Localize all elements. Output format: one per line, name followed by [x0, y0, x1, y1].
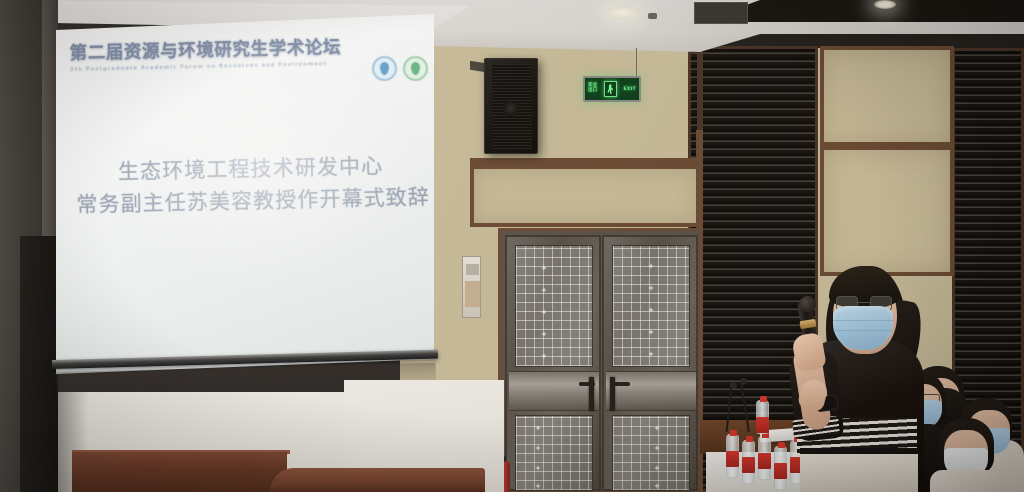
wooden-table-curved — [270, 468, 485, 492]
door-right-push-plate[interactable] — [606, 371, 696, 411]
door-left-glass-upper — [515, 245, 593, 367]
exit-sign-english-label: EXIT — [624, 87, 637, 92]
ceiling-vent-grille — [694, 2, 748, 24]
left-wall-column — [42, 0, 58, 240]
projection-screen: 第二届资源与环境研究生学术论坛 2th Postgraduate Academi… — [56, 14, 434, 374]
audience-person-5-body — [930, 470, 1002, 492]
table-mic-head-2 — [740, 378, 747, 385]
ceiling-light-main — [606, 6, 640, 19]
leaf-drop-shape — [411, 62, 420, 75]
slide-body-text: 生态环境工程技术研发中心 常务副主任苏美容教授作开幕式致辞 — [75, 150, 426, 222]
wall-mounted-loudspeaker — [484, 58, 538, 154]
speaker-driver-cone — [503, 101, 518, 116]
door-right-lever[interactable] — [614, 382, 630, 386]
water-bottle — [742, 440, 755, 484]
exit-sign-chinese-label: 安全出口 — [588, 84, 597, 93]
door-right[interactable] — [602, 235, 698, 491]
slide-text-line-2: 常务副主任苏美容教授作开幕式致辞 — [76, 182, 427, 222]
wall-plaque — [462, 256, 481, 318]
door-left-lever[interactable] — [579, 382, 595, 386]
table-mic-head-1 — [730, 382, 737, 389]
water-drop-logo-blue-icon — [372, 56, 397, 81]
exit-sign-face: 安全出口 EXIT — [585, 78, 639, 100]
speaker-skirt — [800, 454, 918, 492]
slide-banner-header: 第二届资源与环境研究生学术论坛 2th Postgraduate Academi… — [69, 32, 422, 102]
wall-panel-lower — [820, 146, 954, 276]
wall-panel-upper — [820, 46, 954, 146]
double-door-frame — [498, 228, 702, 492]
running-man-icon — [604, 81, 617, 97]
ceiling-light-secondary — [874, 0, 896, 9]
emergency-exit-sign: 安全出口 EXIT — [583, 76, 641, 102]
water-bottle — [756, 400, 769, 434]
water-bottle — [774, 446, 787, 490]
leaf-drop-logo-green-icon — [403, 56, 428, 81]
water-bottle — [758, 436, 771, 480]
ceiling-sensor — [648, 13, 657, 19]
wall-panel-above-door — [470, 165, 702, 227]
plaque-lower-band — [465, 281, 480, 307]
speaker-face-mask — [833, 306, 893, 350]
door-left[interactable] — [505, 235, 601, 491]
door-left-glass-lower — [515, 415, 593, 491]
water-drop-shape — [380, 62, 389, 75]
wall-trim-horizontal-upper — [470, 158, 702, 165]
exit-sign-hanging-wire — [636, 48, 637, 78]
wooden-podium — [72, 452, 287, 492]
water-bottle — [726, 434, 739, 478]
glasses-bridge — [858, 302, 870, 303]
door-left-push-plate[interactable] — [509, 371, 599, 411]
plaque-upper-area — [466, 264, 479, 275]
slide-logo-group — [372, 56, 428, 81]
conference-hall-photo: 第二届资源与环境研究生学术论坛 2th Postgraduate Academi… — [0, 0, 1024, 492]
door-right-glass-lower — [612, 415, 690, 491]
